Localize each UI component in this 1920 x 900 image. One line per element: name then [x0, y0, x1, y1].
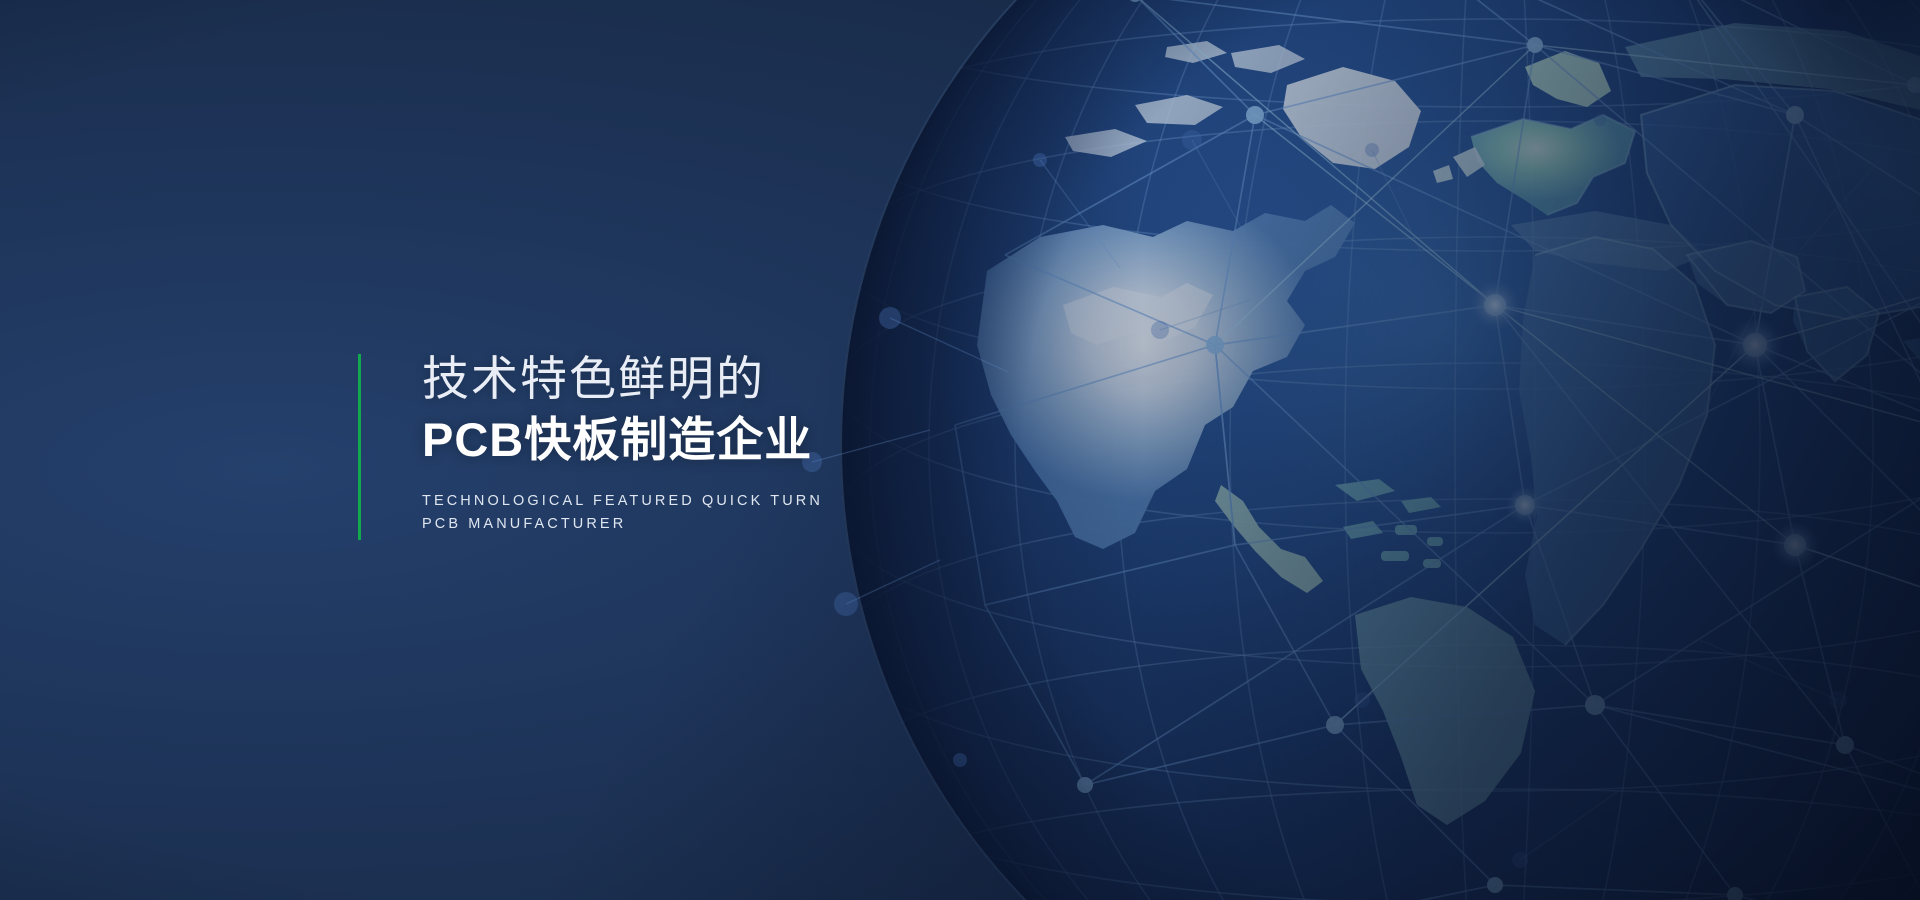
background-vignette	[0, 0, 1920, 900]
headline-line-1: 技术特色鲜明的	[422, 352, 823, 407]
hero-banner: 技术特色鲜明的 PCB快板制造企业 TECHNOLOGICAL FEATURED…	[0, 0, 1920, 900]
headline-line-2: PCB快板制造企业	[422, 411, 823, 468]
hero-text-block: 技术特色鲜明的 PCB快板制造企业 TECHNOLOGICAL FEATURED…	[358, 352, 823, 540]
subtitle-line-2: PCB MANUFACTURER	[422, 513, 823, 536]
headline-group: 技术特色鲜明的 PCB快板制造企业 TECHNOLOGICAL FEATURED…	[361, 352, 823, 537]
subtitle-line-1: TECHNOLOGICAL FEATURED QUICK TURN	[422, 490, 823, 513]
